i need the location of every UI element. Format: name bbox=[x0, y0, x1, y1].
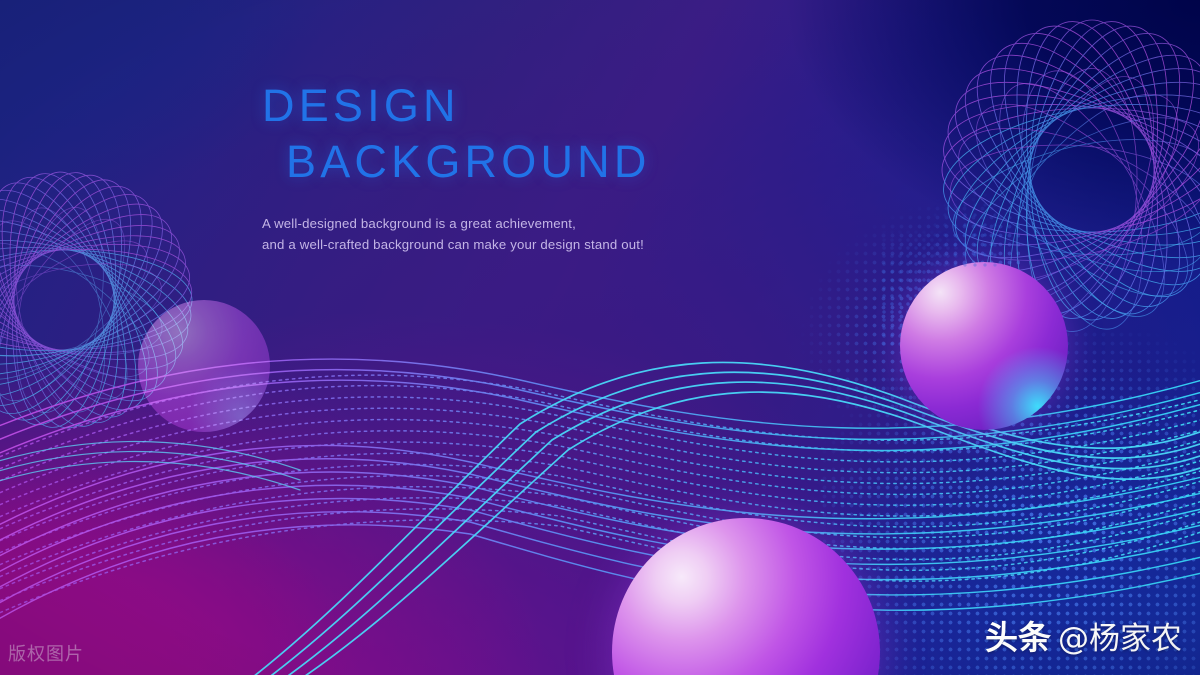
subtitle-line-1: A well-designed background is a great ac… bbox=[262, 213, 651, 234]
brand-label: 头条 bbox=[985, 611, 1051, 659]
author-handle: @杨家农 bbox=[1058, 613, 1182, 658]
subtitle-line-2: and a well-crafted background can make y… bbox=[262, 234, 651, 255]
headline-line-1: DESIGN bbox=[262, 78, 651, 134]
sphere-left bbox=[138, 300, 270, 432]
subtitle-block: A well-designed background is a great ac… bbox=[262, 213, 651, 256]
headline-line-2: BACKGROUND bbox=[262, 134, 651, 190]
sphere-right bbox=[900, 262, 1068, 430]
headline-block: DESIGN BACKGROUND A well-designed backgr… bbox=[262, 78, 651, 255]
copyright-watermark: 版权图片 bbox=[8, 640, 84, 666]
design-background-poster: DESIGN BACKGROUND A well-designed backgr… bbox=[0, 0, 1200, 675]
publisher-watermark: 头条 @杨家农 bbox=[985, 611, 1182, 659]
